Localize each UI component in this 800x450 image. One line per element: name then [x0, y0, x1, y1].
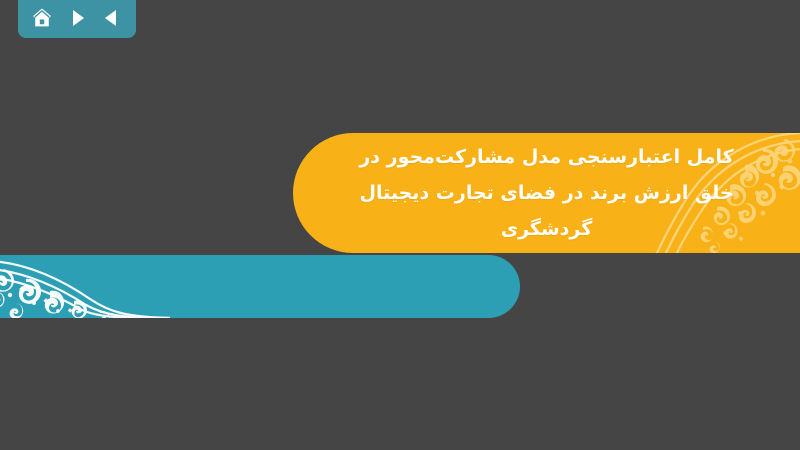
- slide-canvas: کامل اعتبارسنجی مدل مشارکت‌محور در خلق ا…: [0, 0, 800, 450]
- title-line-3: گردشگری: [501, 211, 593, 247]
- forward-button[interactable]: [64, 5, 90, 31]
- back-triangle-icon: [102, 8, 122, 28]
- navigation-bar: [18, 0, 136, 38]
- home-icon: [31, 7, 53, 29]
- arabesque-corner-ornament-mirrored: [0, 255, 170, 318]
- forward-triangle-icon: [67, 8, 87, 28]
- title-line-1: کامل اعتبارسنجی مدل مشارکت‌محور در: [359, 139, 733, 175]
- title-line-2: خلق ارزش برند در فضای تجارت دیجیتال: [359, 175, 733, 211]
- teal-accent-band: [0, 255, 520, 318]
- back-button[interactable]: [99, 5, 125, 31]
- home-button[interactable]: [29, 5, 55, 31]
- title-panel: کامل اعتبارسنجی مدل مشارکت‌محور در خلق ا…: [293, 133, 800, 253]
- slide-title: کامل اعتبارسنجی مدل مشارکت‌محور در خلق ا…: [293, 133, 800, 253]
